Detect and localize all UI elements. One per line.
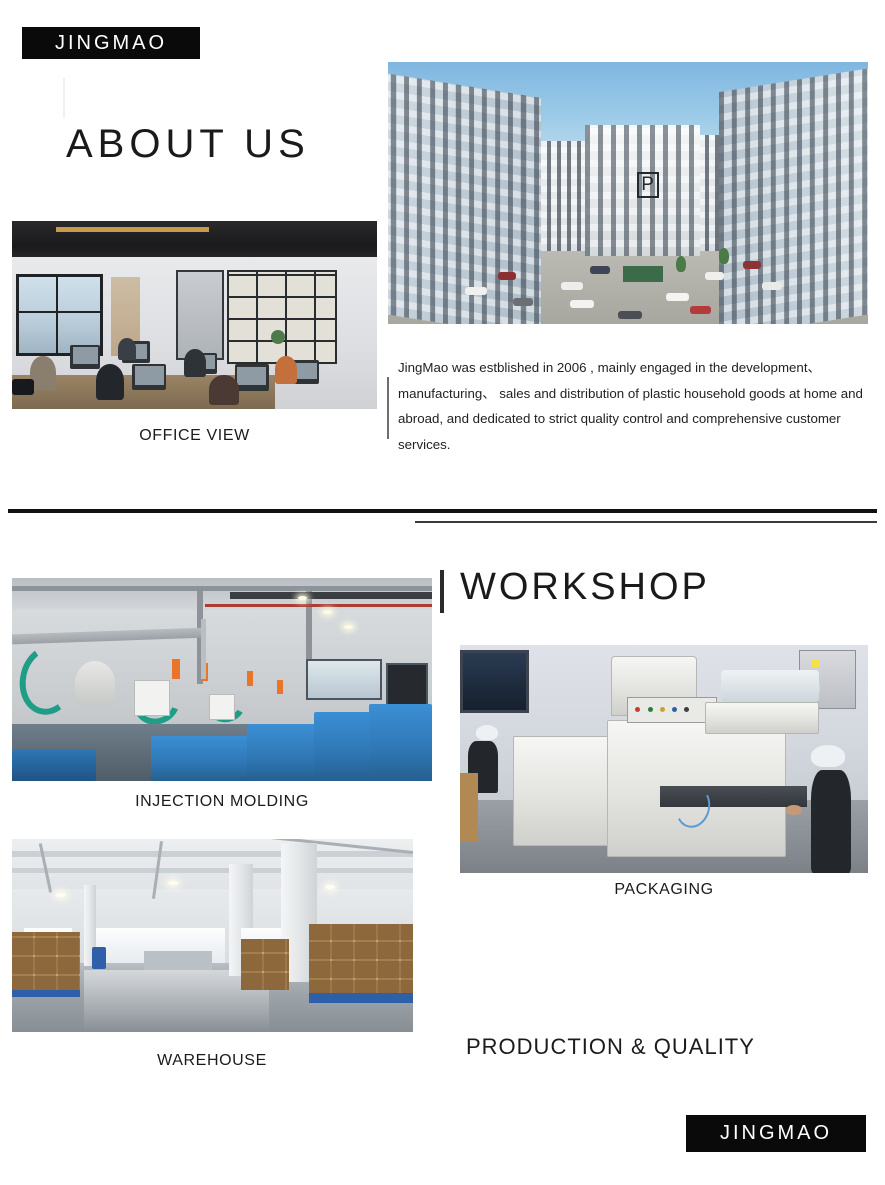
parked-car <box>666 293 689 301</box>
office-worker <box>118 338 136 360</box>
right-wing-building <box>719 67 868 324</box>
window-grid <box>719 67 868 324</box>
monitor <box>132 364 166 390</box>
overhead-duct <box>230 592 432 599</box>
workshop-window <box>306 659 382 700</box>
parked-car <box>513 298 533 306</box>
ceiling-beam <box>12 851 413 857</box>
office-worker <box>275 356 297 384</box>
workshop-accent-bar <box>440 570 444 613</box>
parked-car <box>465 287 487 295</box>
monitor <box>235 364 269 391</box>
parked-car <box>762 282 782 290</box>
section-divider-thin <box>415 521 877 523</box>
office-view-photo <box>12 221 377 409</box>
courtyard-tree <box>676 256 686 272</box>
wall-window <box>460 650 529 714</box>
office-worker <box>96 364 124 400</box>
display-shelving <box>227 270 337 364</box>
brand-badge-top-label: JINGMAO <box>55 32 167 55</box>
parked-car <box>561 282 583 290</box>
central-building: P <box>585 125 700 256</box>
brand-badge-top: JINGMAO <box>22 27 200 59</box>
pallet <box>309 993 413 1003</box>
office-window <box>16 274 104 357</box>
panel-button <box>648 707 653 712</box>
glass-door <box>176 270 223 360</box>
office-worker <box>30 356 56 390</box>
control-box <box>134 680 170 716</box>
monitor <box>70 345 100 369</box>
office-worker <box>184 349 206 377</box>
worker-hand <box>786 805 802 815</box>
left-wing-building <box>388 72 542 324</box>
packaging-worker <box>811 770 851 873</box>
film-roll <box>721 670 819 702</box>
panel-button <box>672 707 677 712</box>
about-accent-bar-light <box>63 78 65 118</box>
office-chair <box>12 379 34 395</box>
ceiling-beam <box>12 586 432 591</box>
parked-car <box>570 300 594 308</box>
paragraph-accent-bar <box>387 377 389 439</box>
brand-badge-bottom-label: JINGMAO <box>720 1122 832 1145</box>
stacked-cartons <box>309 924 413 997</box>
injection-molding-photo <box>12 578 432 781</box>
safety-marker <box>277 680 283 694</box>
molding-machine <box>369 704 432 781</box>
caption-office-view: OFFICE VIEW <box>12 427 377 445</box>
workshop-section-title: WORKSHOP <box>460 566 710 609</box>
about-paragraph: JingMao was estblished in 2006 , mainly … <box>398 355 874 457</box>
stacked-cartons <box>12 932 80 994</box>
packaging-photo <box>460 645 868 873</box>
about-section-title: ABOUT US <box>66 122 310 167</box>
panel-button <box>660 707 665 712</box>
control-box <box>209 694 235 720</box>
window-grid <box>388 72 542 324</box>
safety-marker <box>172 659 180 679</box>
office-worker <box>209 375 239 405</box>
window-mullion <box>16 311 104 313</box>
ceiling-lamp <box>344 625 353 629</box>
parked-car <box>705 272 724 280</box>
caption-warehouse: WAREHOUSE <box>12 1052 412 1070</box>
parked-car <box>618 311 642 319</box>
brand-badge-bottom: JINGMAO <box>686 1115 866 1152</box>
window-mullion <box>56 274 58 357</box>
courtyard-tree <box>719 248 729 264</box>
parked-car <box>743 261 761 269</box>
production-quality-title: PRODUCTION & QUALITY <box>466 1034 786 1060</box>
wooden-chair <box>460 773 478 841</box>
service-counter <box>144 951 212 970</box>
worker-hairnet <box>476 725 498 740</box>
building-letter-sign: P <box>637 172 659 198</box>
green-container <box>623 266 663 282</box>
molding-machine <box>151 736 260 781</box>
sprinkler-pipe <box>205 604 432 607</box>
pallet <box>12 990 80 998</box>
caption-injection-molding: INJECTION MOLDING <box>12 793 432 811</box>
ceiling-light-strip <box>56 227 209 233</box>
workshop-window <box>386 663 428 708</box>
parked-car <box>590 266 610 274</box>
ceiling-beam <box>12 868 413 873</box>
material-hopper <box>75 661 115 705</box>
blue-drum <box>92 947 106 969</box>
worker-hairnet <box>811 745 845 767</box>
parked-car <box>690 306 711 314</box>
film-holder-frame <box>705 702 819 734</box>
safety-marker <box>247 671 253 686</box>
warehouse-photo <box>12 839 413 1032</box>
molding-machine <box>12 749 96 781</box>
warning-label <box>811 659 820 667</box>
machine-mast <box>201 619 206 680</box>
stacked-cartons <box>241 939 289 989</box>
factory-campus-photo: P <box>388 62 868 324</box>
parked-car <box>498 272 516 280</box>
section-divider-thick <box>8 509 877 513</box>
caption-packaging: PACKAGING <box>460 881 868 899</box>
